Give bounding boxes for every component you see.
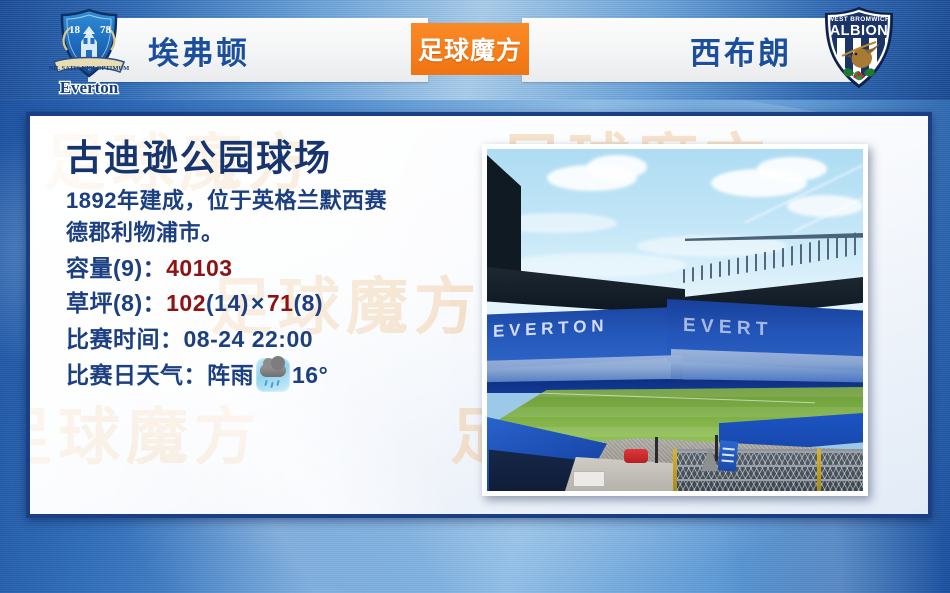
stadium-photo-frame[interactable]: E V E R T O N E V E R T xyxy=(482,144,868,496)
capacity-row: 容量(9)： 40103 xyxy=(66,251,486,287)
match-time-label: 比赛时间： xyxy=(66,322,184,358)
site-logo-label: 足球魔方 xyxy=(418,31,522,67)
pitch-length-rank: (14) xyxy=(206,286,249,322)
photo-red-equipment-bag xyxy=(624,449,648,463)
watermark-text: 足球魔方 xyxy=(30,386,262,476)
west-bromwich-albion-crest: WEST BROMWICH ALBION xyxy=(812,4,906,98)
everton-crest: 18 78 NIL SATIS NISI OPTIMUM Everton xyxy=(42,4,136,98)
crest-year-right: 78 xyxy=(100,24,112,36)
pitch-width: 71 xyxy=(267,286,294,322)
match-header: 埃弗顿 西布朗 18 78 NIL SATI xyxy=(0,0,950,100)
capacity-value: 40103 xyxy=(166,251,232,287)
rain-shower-icon xyxy=(256,358,290,392)
weather-condition: 阵雨 xyxy=(207,358,254,394)
site-logo[interactable]: 足球魔方 xyxy=(411,23,529,75)
stadium-info-text: 古迪逊公园球场 1892年建成，位于英格兰默西赛 德郡利物浦市。 容量(9)： … xyxy=(66,140,486,393)
pitch-length: 102 xyxy=(166,286,206,322)
stadium-description-line1: 1892年建成，位于英格兰默西赛 xyxy=(66,186,466,216)
capacity-label: 容量(9)： xyxy=(66,251,166,287)
watermark-text: 足球魔方 xyxy=(330,506,602,514)
photo-stand-lettering: E V E R T xyxy=(683,315,767,341)
crest-line2: ALBION xyxy=(830,23,889,39)
photo-notice-board xyxy=(573,471,605,487)
match-time-row: 比赛时间： 08-24 22:00 xyxy=(66,322,486,358)
weather-temperature: 16° xyxy=(292,358,328,394)
weather-label: 比赛日天气： xyxy=(66,358,207,394)
home-team-name: 埃弗顿 xyxy=(148,28,250,73)
goodison-park-stadium-photo: E V E R T O N E V E R T xyxy=(487,149,863,491)
stadium-description-line2: 德郡利物浦市。 xyxy=(66,218,466,248)
pitch-width-rank: (8) xyxy=(293,286,323,322)
matchday-weather-row: 比赛日天气： 阵雨 16° xyxy=(66,358,486,394)
svg-text:NIL SATIS NISI OPTIMUM: NIL SATIS NISI OPTIMUM xyxy=(49,65,130,72)
home-team-namebar xyxy=(88,18,428,82)
app-root: 埃弗顿 西布朗 18 78 NIL SATI xyxy=(0,0,950,593)
pitch-row: 草坪(8)： 102 (14) × 71 (8) xyxy=(66,286,486,322)
crest-line1: WEST BROMWICH xyxy=(828,16,890,23)
crest-year-left: 18 xyxy=(69,24,81,36)
stadium-title: 古迪逊公园球场 xyxy=(66,140,486,176)
away-team-name: 西布朗 xyxy=(690,28,792,73)
photo-blue-sign xyxy=(718,440,739,471)
pitch-times-symbol: × xyxy=(249,286,267,322)
match-time-value: 08-24 22:00 xyxy=(184,322,314,358)
crest-club-name: Everton xyxy=(60,78,119,97)
pitch-label: 草坪(8)： xyxy=(66,286,166,322)
